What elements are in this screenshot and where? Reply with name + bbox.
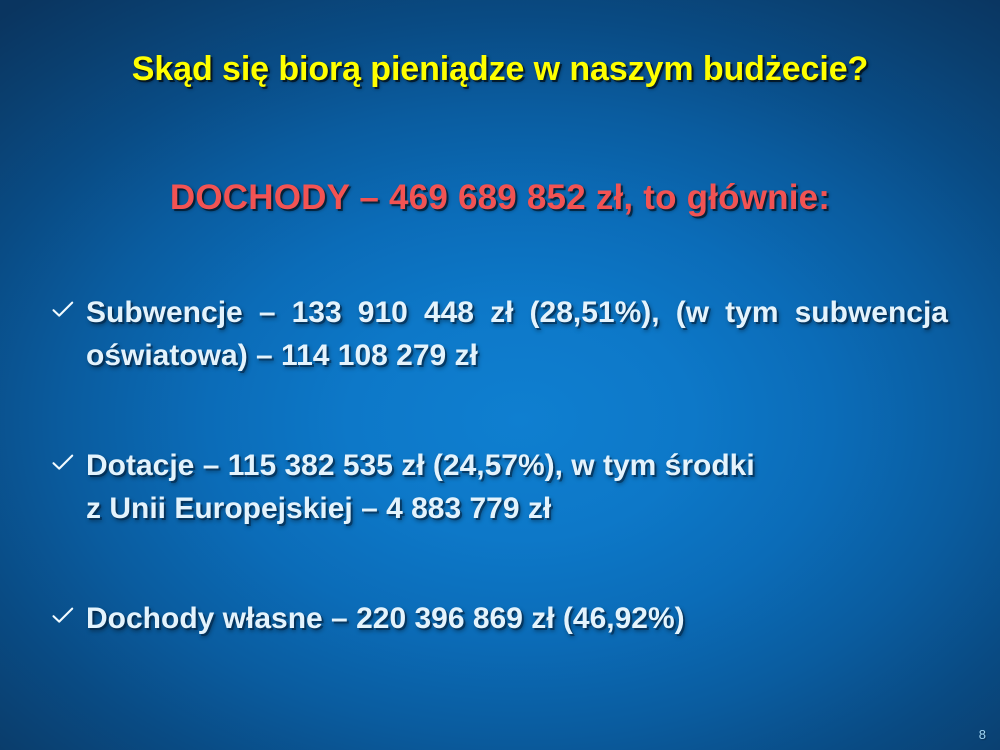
check-icon — [52, 607, 86, 625]
page-number: 8 — [979, 727, 986, 742]
slide-subtitle-text: DOCHODY – 469 689 852 zł, to głównie: — [170, 178, 830, 218]
slide-canvas: Skąd się biorą pieniądze w naszym budżec… — [0, 0, 1000, 750]
check-icon — [52, 301, 86, 319]
slide-title-text: Skąd się biorą pieniądze w naszym budżec… — [132, 50, 868, 89]
list-item: Dotacje – 115 382 535 zł (24,57%), w tym… — [52, 445, 948, 530]
slide-title: Skąd się biorą pieniądze w naszym budżec… — [0, 50, 1000, 89]
check-icon — [52, 454, 86, 472]
list-item-text: Dotacje – 115 382 535 zł (24,57%), w tym… — [86, 445, 948, 530]
list-item: Subwencje – 133 910 448 zł (28,51%), (w … — [52, 292, 948, 377]
list-item-text: Dochody własne – 220 396 869 zł (46,92%) — [86, 598, 948, 641]
list-item: Dochody własne – 220 396 869 zł (46,92%) — [52, 598, 948, 641]
bullet-list: Subwencje – 133 910 448 zł (28,51%), (w … — [52, 292, 948, 641]
slide-subtitle: DOCHODY – 469 689 852 zł, to głównie: — [0, 178, 1000, 218]
list-item-text: Subwencje – 133 910 448 zł (28,51%), (w … — [86, 292, 948, 377]
